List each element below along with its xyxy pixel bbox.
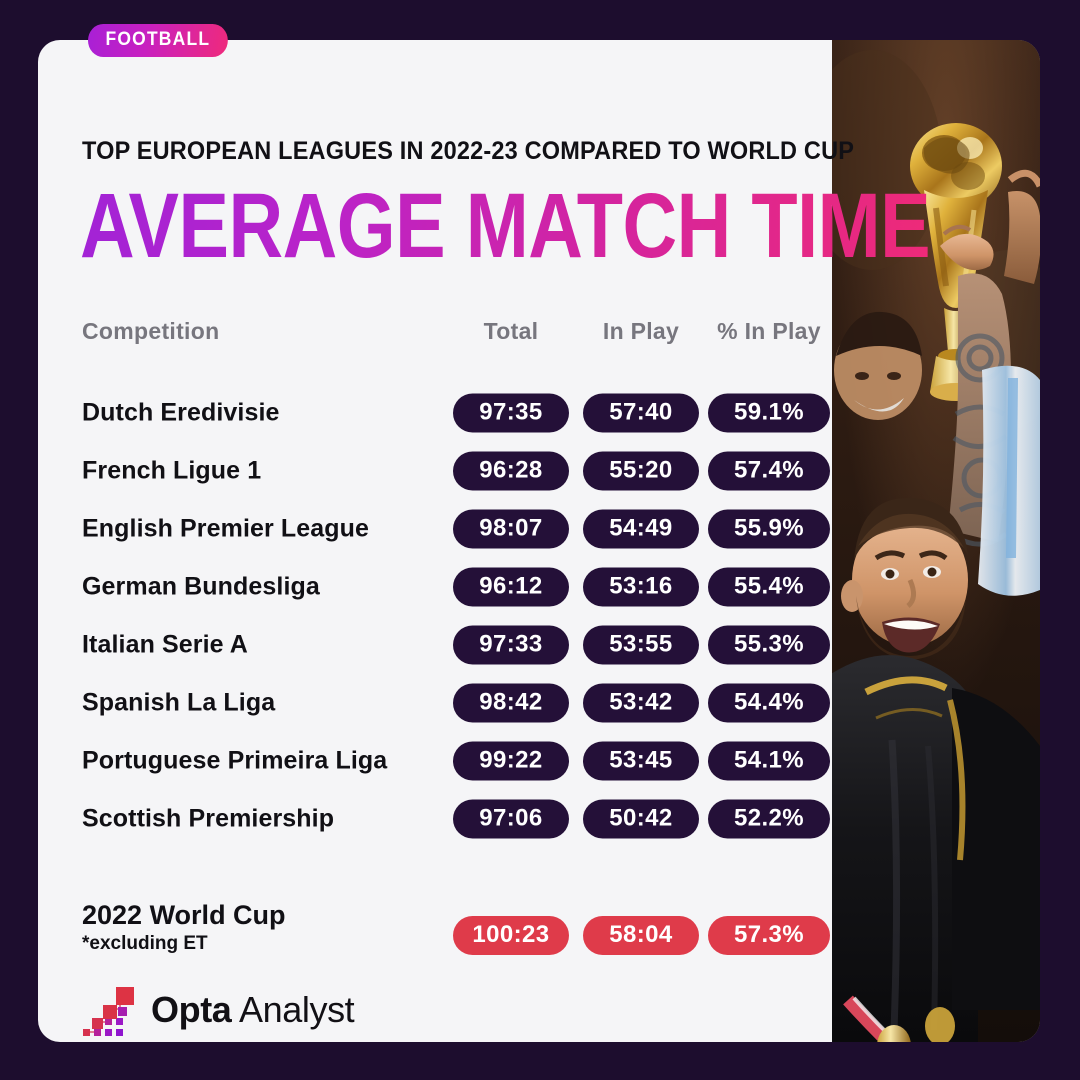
row-total-pill: 96:12 xyxy=(453,568,569,607)
row-competition-label: Italian Serie A xyxy=(82,631,248,660)
row-total-pill: 96:28 xyxy=(453,452,569,491)
highlight-note: *excluding ET xyxy=(82,933,208,955)
row-total-pill: 98:42 xyxy=(453,684,569,723)
row-competition-label: Spanish La Liga xyxy=(82,689,275,718)
column-header-total: Total xyxy=(453,318,569,345)
row-inplay-pill: 54:49 xyxy=(583,510,699,549)
row-pct-pill: 59.1% xyxy=(708,394,830,433)
row-pct-pill: 55.9% xyxy=(708,510,830,549)
category-badge[interactable]: FOOTBALL xyxy=(88,24,228,57)
row-pct-pill: 54.1% xyxy=(708,742,830,781)
card-content: TOP EUROPEAN LEAGUES IN 2022-23 COMPARED… xyxy=(82,40,842,1042)
row-inplay-pill: 55:20 xyxy=(583,452,699,491)
page-title: AVERAGE MATCH TIME xyxy=(80,179,930,271)
highlight-inplay-pill: 58:04 xyxy=(583,916,699,955)
row-pct-pill: 55.4% xyxy=(708,568,830,607)
row-total-pill: 97:33 xyxy=(453,626,569,665)
logo-suffix: Analyst xyxy=(231,989,354,1030)
opta-staircase-icon xyxy=(82,982,138,1038)
highlight-label: 2022 World Cup xyxy=(82,900,286,931)
row-competition-label: Portuguese Primeira Liga xyxy=(82,747,387,776)
row-inplay-pill: 53:16 xyxy=(583,568,699,607)
table-row: Scottish Premiership 97:06 50:42 52.2% xyxy=(82,790,834,848)
row-total-pill: 97:06 xyxy=(453,800,569,839)
row-inplay-pill: 53:55 xyxy=(583,626,699,665)
logo-brand: Opta xyxy=(151,989,231,1030)
table-row: English Premier League 98:07 54:49 55.9% xyxy=(82,500,834,558)
table-row: French Ligue 1 96:28 55:20 57.4% xyxy=(82,442,834,500)
column-header-competition: Competition xyxy=(82,318,219,345)
infographic-root: TOP EUROPEAN LEAGUES IN 2022-23 COMPARED… xyxy=(0,0,1080,1080)
table-row: German Bundesliga 96:12 53:16 55.4% xyxy=(82,558,834,616)
row-competition-label: English Premier League xyxy=(82,515,369,544)
row-pct-pill: 55.3% xyxy=(708,626,830,665)
table-body: Dutch Eredivisie 97:35 57:40 59.1% Frenc… xyxy=(82,384,834,848)
row-total-pill: 97:35 xyxy=(453,394,569,433)
content-card: TOP EUROPEAN LEAGUES IN 2022-23 COMPARED… xyxy=(38,40,1040,1042)
table-row: Portuguese Primeira Liga 99:22 53:45 54.… xyxy=(82,732,834,790)
table-header: Competition Total In Play % In Play xyxy=(82,318,834,352)
column-header-in-play: In Play xyxy=(583,318,699,345)
highlight-total-pill: 100:23 xyxy=(453,916,569,955)
highlight-pct-pill: 57.3% xyxy=(708,916,830,955)
row-pct-pill: 57.4% xyxy=(708,452,830,491)
row-inplay-pill: 57:40 xyxy=(583,394,699,433)
logo-wordmark: Opta Analyst xyxy=(151,989,354,1031)
row-inplay-pill: 53:42 xyxy=(583,684,699,723)
row-inplay-pill: 53:45 xyxy=(583,742,699,781)
opta-analyst-logo: Opta Analyst xyxy=(82,982,354,1038)
row-competition-label: Dutch Eredivisie xyxy=(82,399,280,428)
row-total-pill: 98:07 xyxy=(453,510,569,549)
table-row: Italian Serie A 97:33 53:55 55.3% xyxy=(82,616,834,674)
row-pct-pill: 54.4% xyxy=(708,684,830,723)
kicker-line: TOP EUROPEAN LEAGUES IN 2022-23 COMPARED… xyxy=(82,137,854,166)
row-inplay-pill: 50:42 xyxy=(583,800,699,839)
row-total-pill: 99:22 xyxy=(453,742,569,781)
row-competition-label: French Ligue 1 xyxy=(82,457,261,486)
row-competition-label: German Bundesliga xyxy=(82,573,320,602)
highlight-row-world-cup: 2022 World Cup *excluding ET 100:23 58:0… xyxy=(82,900,834,958)
column-header-pct-in-play: % In Play xyxy=(708,318,830,345)
table-row: Dutch Eredivisie 97:35 57:40 59.1% xyxy=(82,384,834,442)
row-competition-label: Scottish Premiership xyxy=(82,805,334,834)
row-pct-pill: 52.2% xyxy=(708,800,830,839)
table-row: Spanish La Liga 98:42 53:42 54.4% xyxy=(82,674,834,732)
